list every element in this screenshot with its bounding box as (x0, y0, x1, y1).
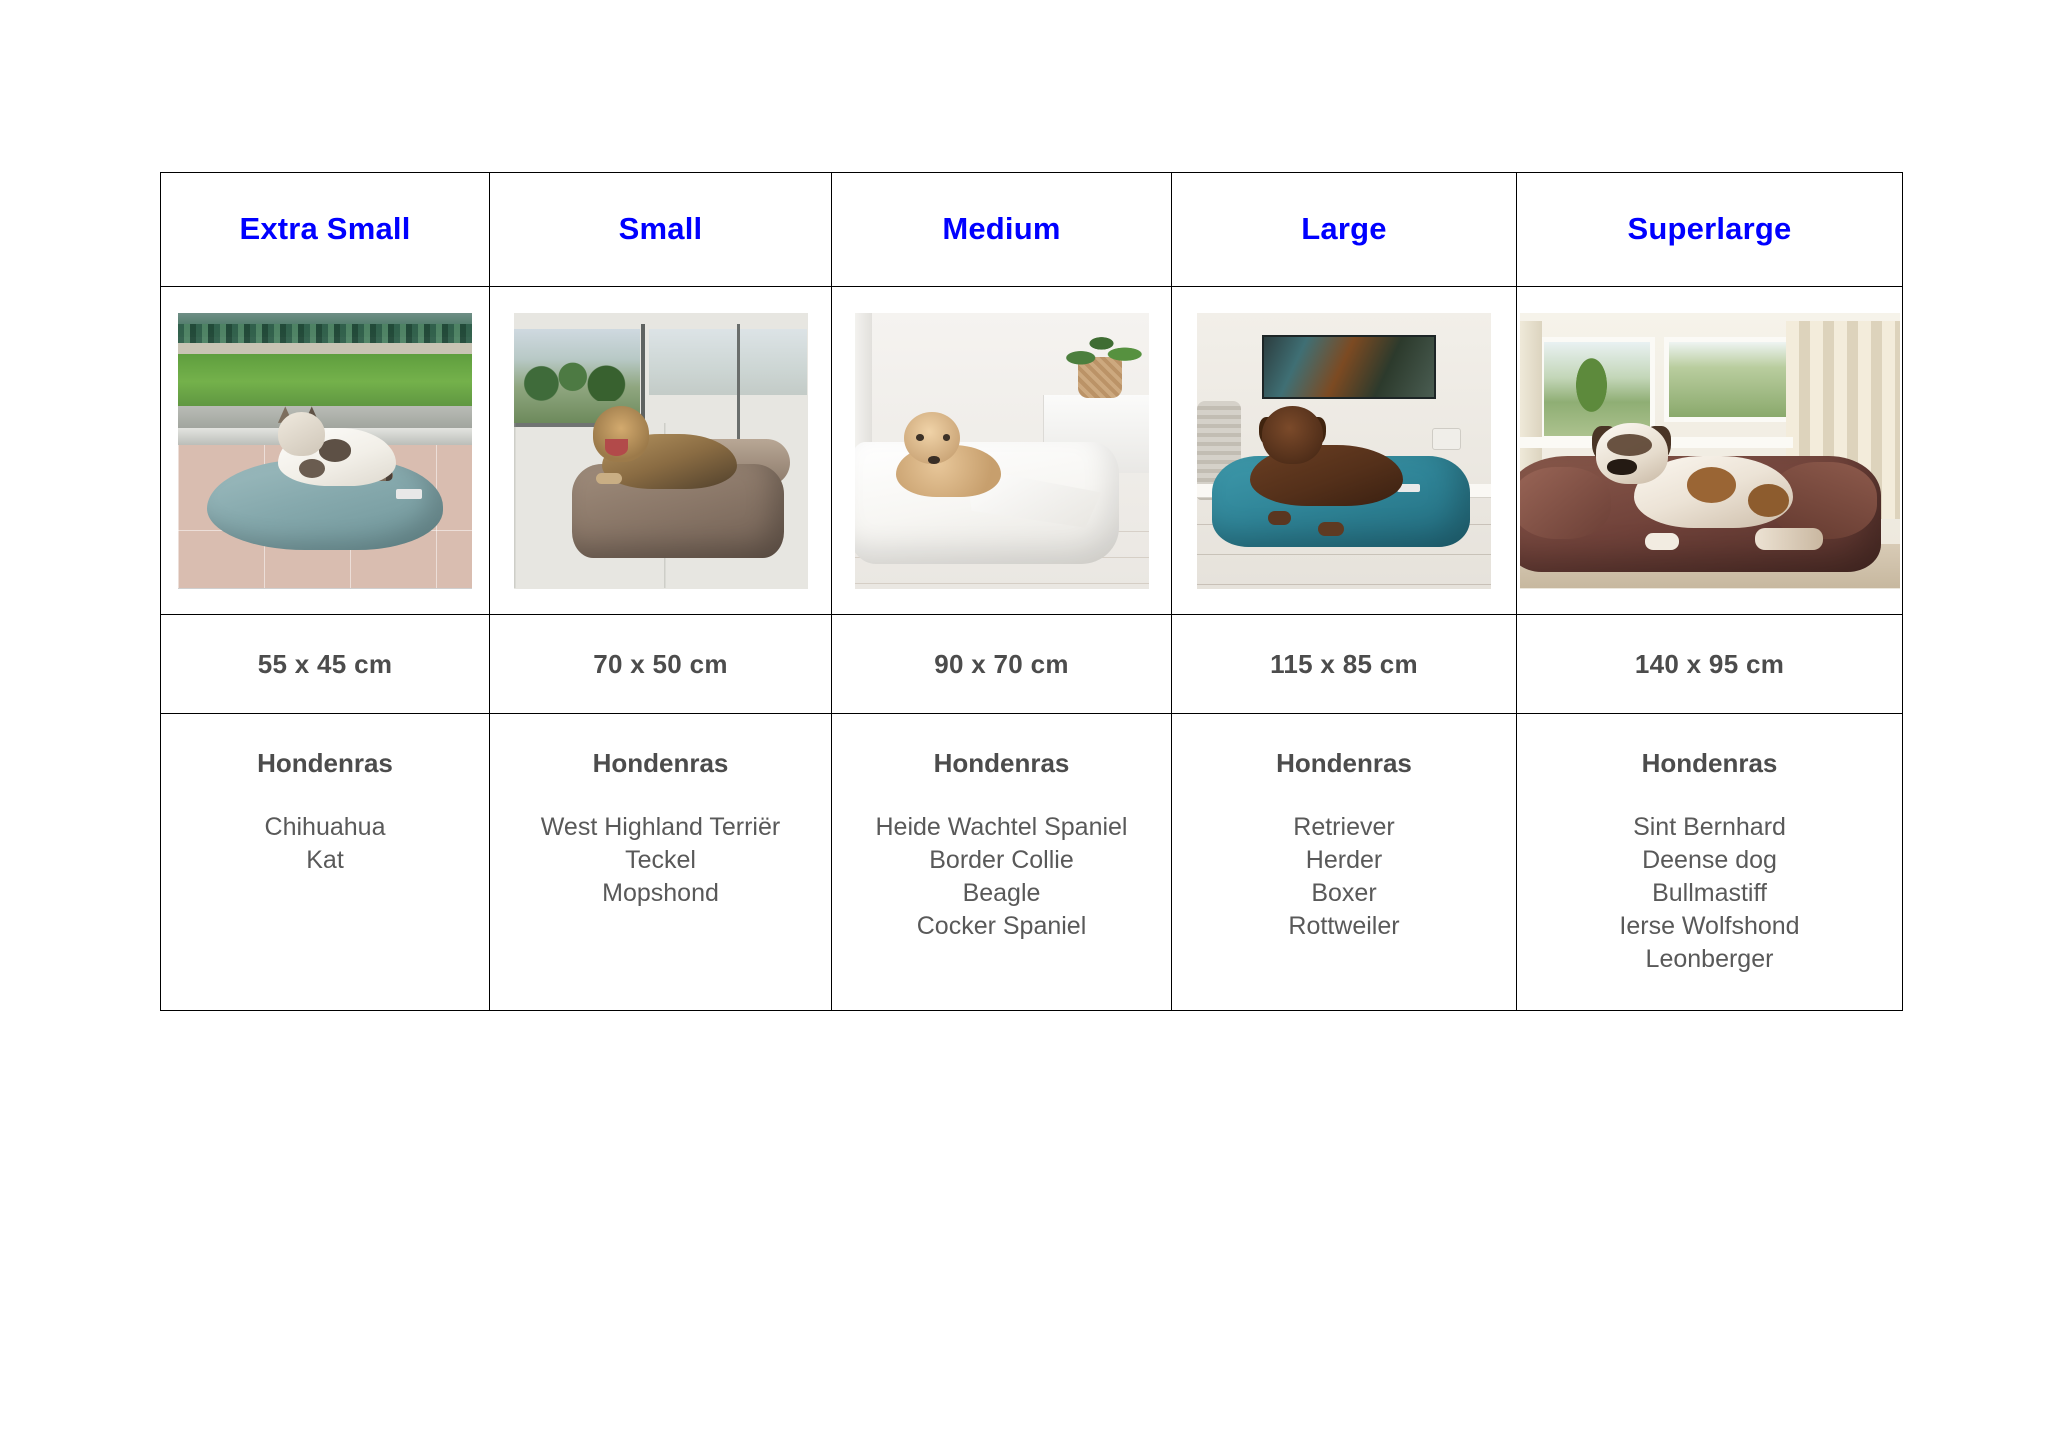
breeds-title-superlarge: Hondenras (1517, 748, 1902, 779)
breed-item: West Highland Terriër (490, 811, 831, 844)
breed-item: Retriever (1172, 811, 1516, 844)
breed-item: Sint Bernhard (1517, 811, 1902, 844)
size-name-large: Large (1172, 212, 1516, 246)
header-cell-medium: Medium (832, 173, 1172, 287)
dog-bed-size-table: Extra Small Small Medium Large Superlarg… (160, 172, 1903, 1011)
dimension-cell-medium: 90 x 70 cm (832, 615, 1172, 714)
size-name-extra-small: Extra Small (161, 212, 489, 246)
breeds-title-medium: Hondenras (832, 748, 1171, 779)
breeds-cell-large: Hondenras RetrieverHerderBoxerRottweiler (1172, 714, 1517, 1011)
breeds-list-small: West Highland TerriërTeckelMopshond (490, 811, 831, 910)
breeds-title-large: Hondenras (1172, 748, 1516, 779)
product-photo-extra-small (178, 313, 472, 589)
table-image-row (161, 287, 1903, 615)
breed-item: Chihuahua (161, 811, 489, 844)
dimension-cell-large: 115 x 85 cm (1172, 615, 1517, 714)
breeds-list-medium: Heide Wachtel SpanielBorder CollieBeagle… (832, 811, 1171, 943)
product-photo-superlarge (1520, 313, 1900, 589)
table-dimensions-row: 55 x 45 cm 70 x 50 cm 90 x 70 cm 115 x 8… (161, 615, 1903, 714)
breed-item: Rottweiler (1172, 910, 1516, 943)
breeds-cell-superlarge: Hondenras Sint BernhardDeense dogBullmas… (1517, 714, 1903, 1011)
photo-cell-small (490, 287, 832, 615)
breed-item: Boxer (1172, 877, 1516, 910)
breeds-cell-medium: Hondenras Heide Wachtel SpanielBorder Co… (832, 714, 1172, 1011)
breeds-list-superlarge: Sint BernhardDeense dogBullmastiffIerse … (1517, 811, 1902, 976)
dimension-small: 70 x 50 cm (490, 649, 831, 680)
size-name-small: Small (490, 212, 831, 246)
dimension-cell-extra-small: 55 x 45 cm (161, 615, 490, 714)
breed-item: Ierse Wolfshond (1517, 910, 1902, 943)
breed-item: Teckel (490, 844, 831, 877)
breed-item: Herder (1172, 844, 1516, 877)
photo-cell-large (1172, 287, 1517, 615)
breed-item: Leonberger (1517, 943, 1902, 976)
breed-item: Border Collie (832, 844, 1171, 877)
breed-item: Beagle (832, 877, 1171, 910)
breed-item: Heide Wachtel Spaniel (832, 811, 1171, 844)
breeds-list-large: RetrieverHerderBoxerRottweiler (1172, 811, 1516, 943)
table-header-row: Extra Small Small Medium Large Superlarg… (161, 173, 1903, 287)
dimension-extra-small: 55 x 45 cm (161, 649, 489, 680)
photo-cell-medium (832, 287, 1172, 615)
photo-cell-extra-small (161, 287, 490, 615)
dimension-superlarge: 140 x 95 cm (1517, 649, 1902, 680)
size-name-medium: Medium (832, 212, 1171, 246)
dimension-medium: 90 x 70 cm (832, 649, 1171, 680)
breed-item: Mopshond (490, 877, 831, 910)
breeds-title-small: Hondenras (490, 748, 831, 779)
breeds-cell-small: Hondenras West Highland TerriërTeckelMop… (490, 714, 832, 1011)
header-cell-small: Small (490, 173, 832, 287)
breeds-list-extra-small: ChihuahuaKat (161, 811, 489, 877)
table-breeds-row: Hondenras ChihuahuaKat Hondenras West Hi… (161, 714, 1903, 1011)
product-photo-medium (855, 313, 1149, 589)
header-cell-large: Large (1172, 173, 1517, 287)
dimension-cell-small: 70 x 50 cm (490, 615, 832, 714)
dimension-large: 115 x 85 cm (1172, 649, 1516, 680)
page-canvas: Extra Small Small Medium Large Superlarg… (0, 0, 2048, 1448)
breeds-title-extra-small: Hondenras (161, 748, 489, 779)
photo-cell-superlarge (1517, 287, 1903, 615)
product-photo-large (1197, 313, 1491, 589)
header-cell-extra-small: Extra Small (161, 173, 490, 287)
product-photo-small (514, 313, 808, 589)
breed-item: Kat (161, 844, 489, 877)
header-cell-superlarge: Superlarge (1517, 173, 1903, 287)
breeds-cell-extra-small: Hondenras ChihuahuaKat (161, 714, 490, 1011)
breed-item: Bullmastiff (1517, 877, 1902, 910)
size-name-superlarge: Superlarge (1517, 212, 1902, 246)
breed-item: Deense dog (1517, 844, 1902, 877)
dimension-cell-superlarge: 140 x 95 cm (1517, 615, 1903, 714)
breed-item: Cocker Spaniel (832, 910, 1171, 943)
